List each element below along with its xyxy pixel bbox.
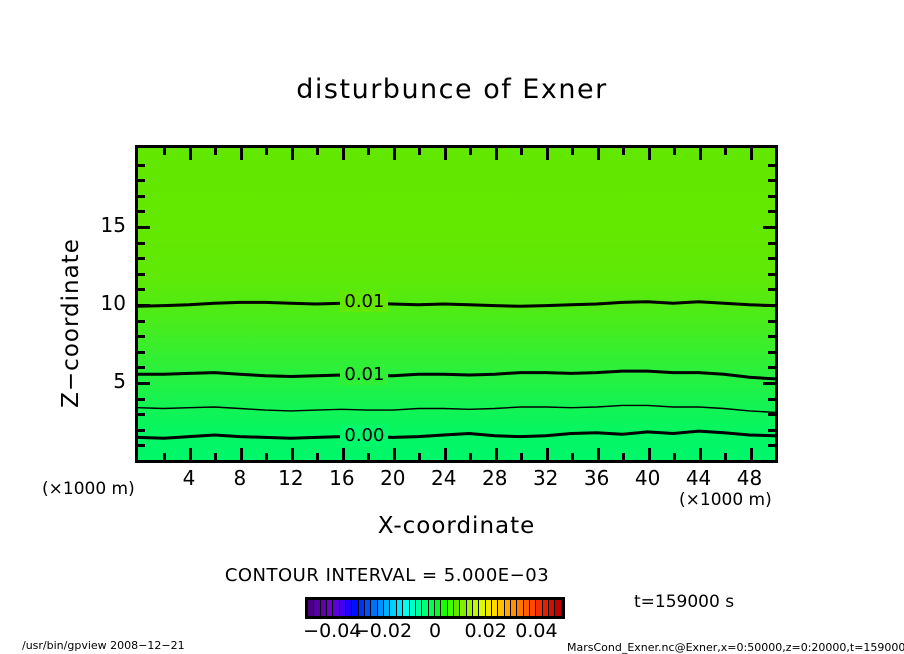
x-unit-left-label: (×1000 m) <box>42 479 135 499</box>
y-axis-tick <box>138 242 145 245</box>
x-axis-tick <box>291 448 294 460</box>
x-axis-tick <box>342 448 345 460</box>
contour-plot-area[interactable]: 0.010.010.00 <box>135 145 778 463</box>
y-axis-tick <box>138 413 145 416</box>
y-axis-tick-right <box>768 179 775 182</box>
x-axis-tick-top <box>189 148 192 160</box>
x-axis-tick <box>750 448 753 460</box>
x-axis-tick <box>520 453 523 460</box>
x-axis-tick-top <box>393 148 396 160</box>
y-axis-tick <box>138 195 145 198</box>
x-axis-tick <box>673 453 676 460</box>
x-axis-tick-top <box>520 148 523 155</box>
x-axis-tick <box>240 448 243 460</box>
y-axis-tick-right <box>768 335 775 338</box>
x-axis-tick-top <box>444 148 447 160</box>
x-axis-tick-top <box>316 148 319 155</box>
y-axis-tick <box>138 288 145 291</box>
colorbar-tick-label: 0.04 <box>501 620 571 642</box>
x-axis-tick <box>495 448 498 460</box>
x-axis-tick-top <box>495 148 498 160</box>
contour-interval-caption: CONTOUR INTERVAL = 5.000E−03 <box>0 565 904 586</box>
x-axis-tick <box>546 448 549 460</box>
x-axis-tick-top <box>571 148 574 155</box>
y-axis-tick <box>138 210 145 213</box>
y-axis-tick-right <box>768 429 775 432</box>
y-axis-tick <box>138 179 145 182</box>
x-axis-tick-top <box>724 148 727 155</box>
x-axis-tick <box>214 453 217 460</box>
y-axis-tick <box>138 444 145 447</box>
page-title: disturbunce of Exner <box>0 74 904 105</box>
x-axis-tick-top <box>265 148 268 155</box>
x-axis-tick <box>444 448 447 460</box>
x-axis-tick <box>622 453 625 460</box>
contour-label: 0.01 <box>344 364 384 385</box>
y-axis-tick-right <box>768 210 775 213</box>
y-axis-tick-right <box>768 288 775 291</box>
y-axis-tick-right <box>768 444 775 447</box>
x-axis-tick <box>189 448 192 460</box>
x-axis-tick-top <box>214 148 217 155</box>
colorbar-bands <box>308 600 562 616</box>
colorbar[interactable] <box>305 597 565 619</box>
time-label: t=159000 s <box>634 592 734 612</box>
y-axis-tick <box>138 382 150 385</box>
x-axis-tick-top <box>469 148 472 155</box>
x-axis-tick-top <box>546 148 549 160</box>
y-axis-tick <box>138 429 145 432</box>
x-axis-tick-top <box>750 148 753 160</box>
x-axis-tick-label: 48 <box>720 466 780 490</box>
x-axis-tick-top <box>673 148 676 155</box>
x-axis-tick <box>571 453 574 460</box>
y-axis-tick-right <box>763 226 775 229</box>
x-axis-tick <box>393 448 396 460</box>
y-axis-tick <box>138 273 145 276</box>
contour-line <box>138 431 775 438</box>
x-axis-tick <box>367 453 370 460</box>
y-axis-tick <box>138 366 145 369</box>
y-axis-tick-right <box>768 351 775 354</box>
y-axis-tick-right <box>768 398 775 401</box>
x-axis-tick <box>163 453 166 460</box>
y-axis-tick <box>138 351 145 354</box>
x-axis-tick <box>699 448 702 460</box>
y-axis-tick-right <box>763 382 775 385</box>
y-axis-tick <box>138 304 150 307</box>
x-unit-right-label: (×1000 m) <box>679 490 772 510</box>
x-axis-tick <box>724 453 727 460</box>
footer-command-text: /usr/bin/gpview 2008−12−21 <box>22 639 185 652</box>
y-axis-tick <box>138 320 145 323</box>
y-axis-tick-right <box>768 257 775 260</box>
contour-label: 0.00 <box>344 425 384 446</box>
y-axis-title: Z−coordinate <box>58 208 84 438</box>
x-axis-tick-top <box>291 148 294 160</box>
x-axis-tick <box>316 453 319 460</box>
contour-line <box>138 302 775 307</box>
y-axis-tick-right <box>768 320 775 323</box>
x-axis-title: X-coordinate <box>135 513 778 539</box>
x-axis-tick-top <box>418 148 421 155</box>
x-axis-tick <box>648 448 651 460</box>
contour-label: 0.01 <box>344 291 384 312</box>
x-axis-tick-top <box>699 148 702 160</box>
y-axis-tick <box>138 398 145 401</box>
y-axis-tick-label: 15 <box>88 213 126 237</box>
y-axis-tick <box>138 226 150 229</box>
y-axis-tick <box>138 335 145 338</box>
contour-lines-layer <box>138 148 775 460</box>
x-axis-tick <box>418 453 421 460</box>
x-axis-tick <box>597 448 600 460</box>
y-axis-tick-right <box>768 413 775 416</box>
x-axis-tick <box>265 453 268 460</box>
x-axis-tick-top <box>240 148 243 160</box>
y-axis-tick <box>138 257 145 260</box>
x-axis-tick-top <box>163 148 166 155</box>
y-axis-tick-right <box>768 366 775 369</box>
y-axis-tick-right <box>768 273 775 276</box>
colorbar-band <box>555 600 561 616</box>
y-axis-tick <box>138 164 145 167</box>
y-axis-tick-right <box>768 164 775 167</box>
x-axis-tick-top <box>342 148 345 160</box>
y-axis-tick-label: 5 <box>88 369 126 393</box>
x-axis-tick-top <box>622 148 625 155</box>
x-axis-tick-top <box>367 148 370 155</box>
footer-source-text: MarsCond_Exner.nc@Exner,x=0:50000,z=0:20… <box>567 641 904 654</box>
y-axis-tick-right <box>768 195 775 198</box>
y-axis-tick-right <box>768 242 775 245</box>
contour-line <box>138 371 775 379</box>
contour-line <box>138 405 775 412</box>
x-axis-tick <box>469 453 472 460</box>
x-axis-tick-top <box>648 148 651 160</box>
y-axis-tick-label: 10 <box>88 291 126 315</box>
x-axis-tick-top <box>597 148 600 160</box>
y-axis-tick-right <box>763 304 775 307</box>
